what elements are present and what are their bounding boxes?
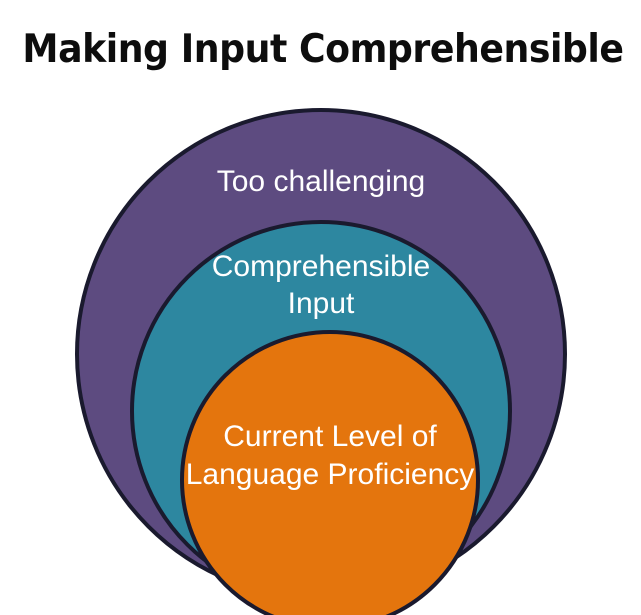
outer-circle-label: Too challenging bbox=[111, 164, 531, 200]
inner-circle-label: Current Level of Language Proficiency bbox=[120, 418, 540, 494]
middle-circle-label: Comprehensible Input bbox=[111, 248, 531, 322]
slide-canvas: Making Input Comprehensible Too challeng… bbox=[0, 0, 641, 615]
